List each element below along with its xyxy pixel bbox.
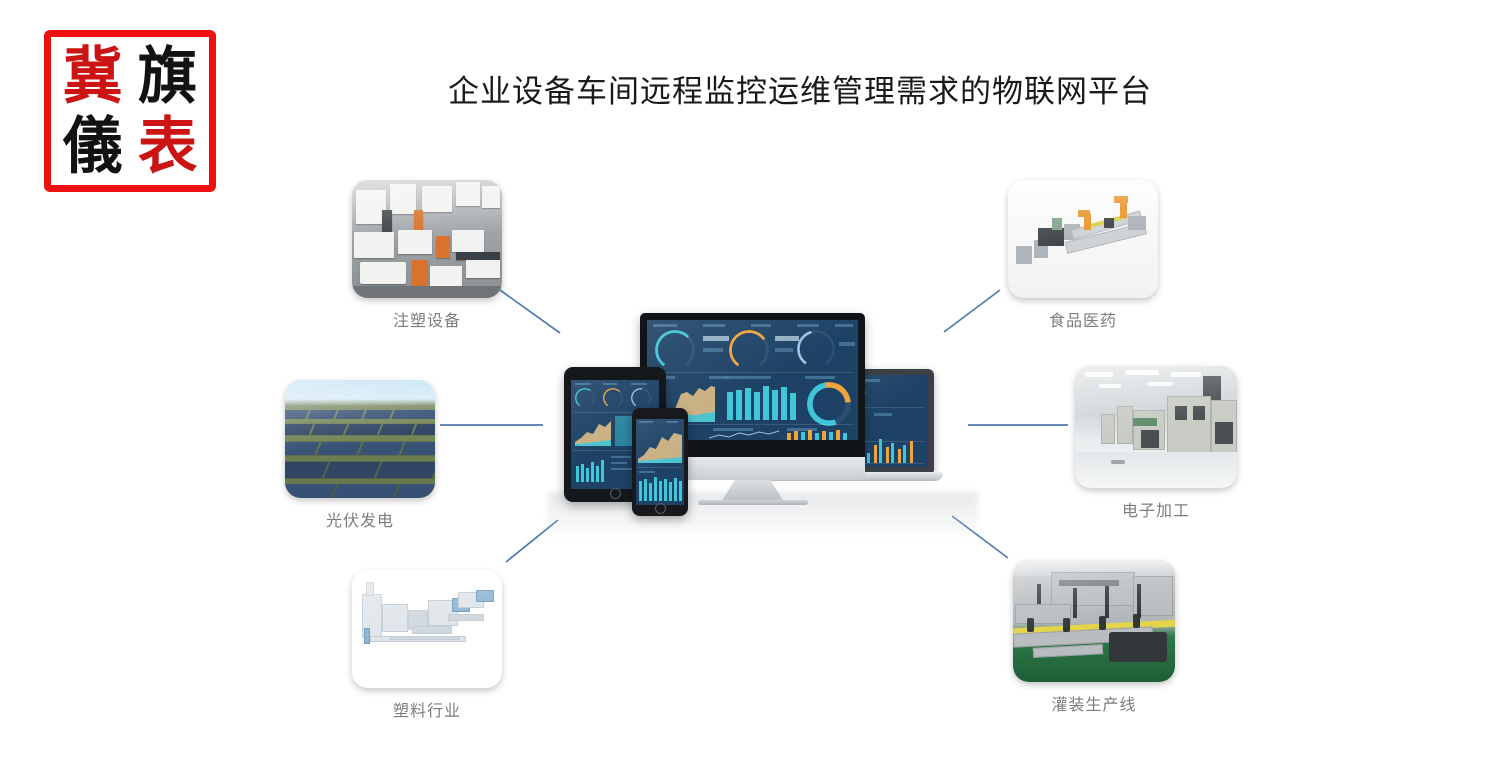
- node-electronic-label: 电子加工: [1075, 497, 1237, 521]
- node-solar-label: 光伏发电: [285, 507, 435, 531]
- device-cluster[interactable]: [548, 305, 968, 520]
- food-pharma-scene: [1008, 180, 1158, 298]
- node-plastic-label: 塑料行业: [352, 697, 502, 721]
- phone-device[interactable]: [632, 408, 688, 516]
- logo-char-4: 表: [128, 108, 208, 185]
- node-solar[interactable]: 光伏发电: [285, 380, 435, 531]
- logo-char-3: 儀: [53, 108, 133, 185]
- node-injection[interactable]: 注塑设备: [352, 180, 502, 331]
- node-injection-label: 注塑设备: [352, 307, 502, 331]
- injection-machine-scene: [352, 180, 502, 298]
- monitor-line-chart: [709, 430, 779, 440]
- tablet-home-button[interactable]: [610, 488, 621, 499]
- phone-home-button[interactable]: [655, 503, 666, 514]
- monitor-gauge-1: [655, 330, 695, 370]
- monitor-donut: [807, 382, 851, 426]
- plastic-line-scene: [352, 570, 502, 688]
- electronics-cleanroom-scene: [1075, 366, 1237, 488]
- logo-char-1: 冀: [53, 38, 133, 115]
- filling-line-scene: [1013, 560, 1175, 682]
- monitor-stand: [721, 480, 784, 502]
- monitor-gauge-2: [729, 330, 769, 370]
- node-food[interactable]: 食品医药: [1008, 180, 1158, 331]
- node-electronic[interactable]: 电子加工: [1075, 366, 1237, 521]
- node-electronic-image: [1075, 366, 1237, 488]
- solar-farm-scene: [285, 380, 435, 498]
- node-filling-label: 灌装生产线: [1013, 691, 1175, 715]
- node-food-label: 食品医药: [1008, 307, 1158, 331]
- node-filling[interactable]: 灌装生产线: [1013, 560, 1175, 715]
- node-injection-image: [352, 180, 502, 298]
- node-plastic[interactable]: 塑料行业: [352, 570, 502, 721]
- phone-dashboard: [636, 419, 684, 505]
- monitor-gauge-3: [797, 330, 835, 368]
- node-plastic-image: [352, 570, 502, 688]
- logo-char-2: 旗: [128, 38, 208, 115]
- page-title: 企业设备车间远程监控运维管理需求的物联网平台: [250, 66, 1350, 111]
- company-logo: 冀 旗 儀 表: [44, 30, 216, 192]
- node-solar-image: [285, 380, 435, 498]
- diagram-canvas: 冀 旗 儀 表 企业设备车间远程监控运维管理需求的物联网平台: [0, 0, 1499, 759]
- node-filling-image: [1013, 560, 1175, 682]
- monitor-base: [698, 500, 808, 505]
- node-food-image: [1008, 180, 1158, 298]
